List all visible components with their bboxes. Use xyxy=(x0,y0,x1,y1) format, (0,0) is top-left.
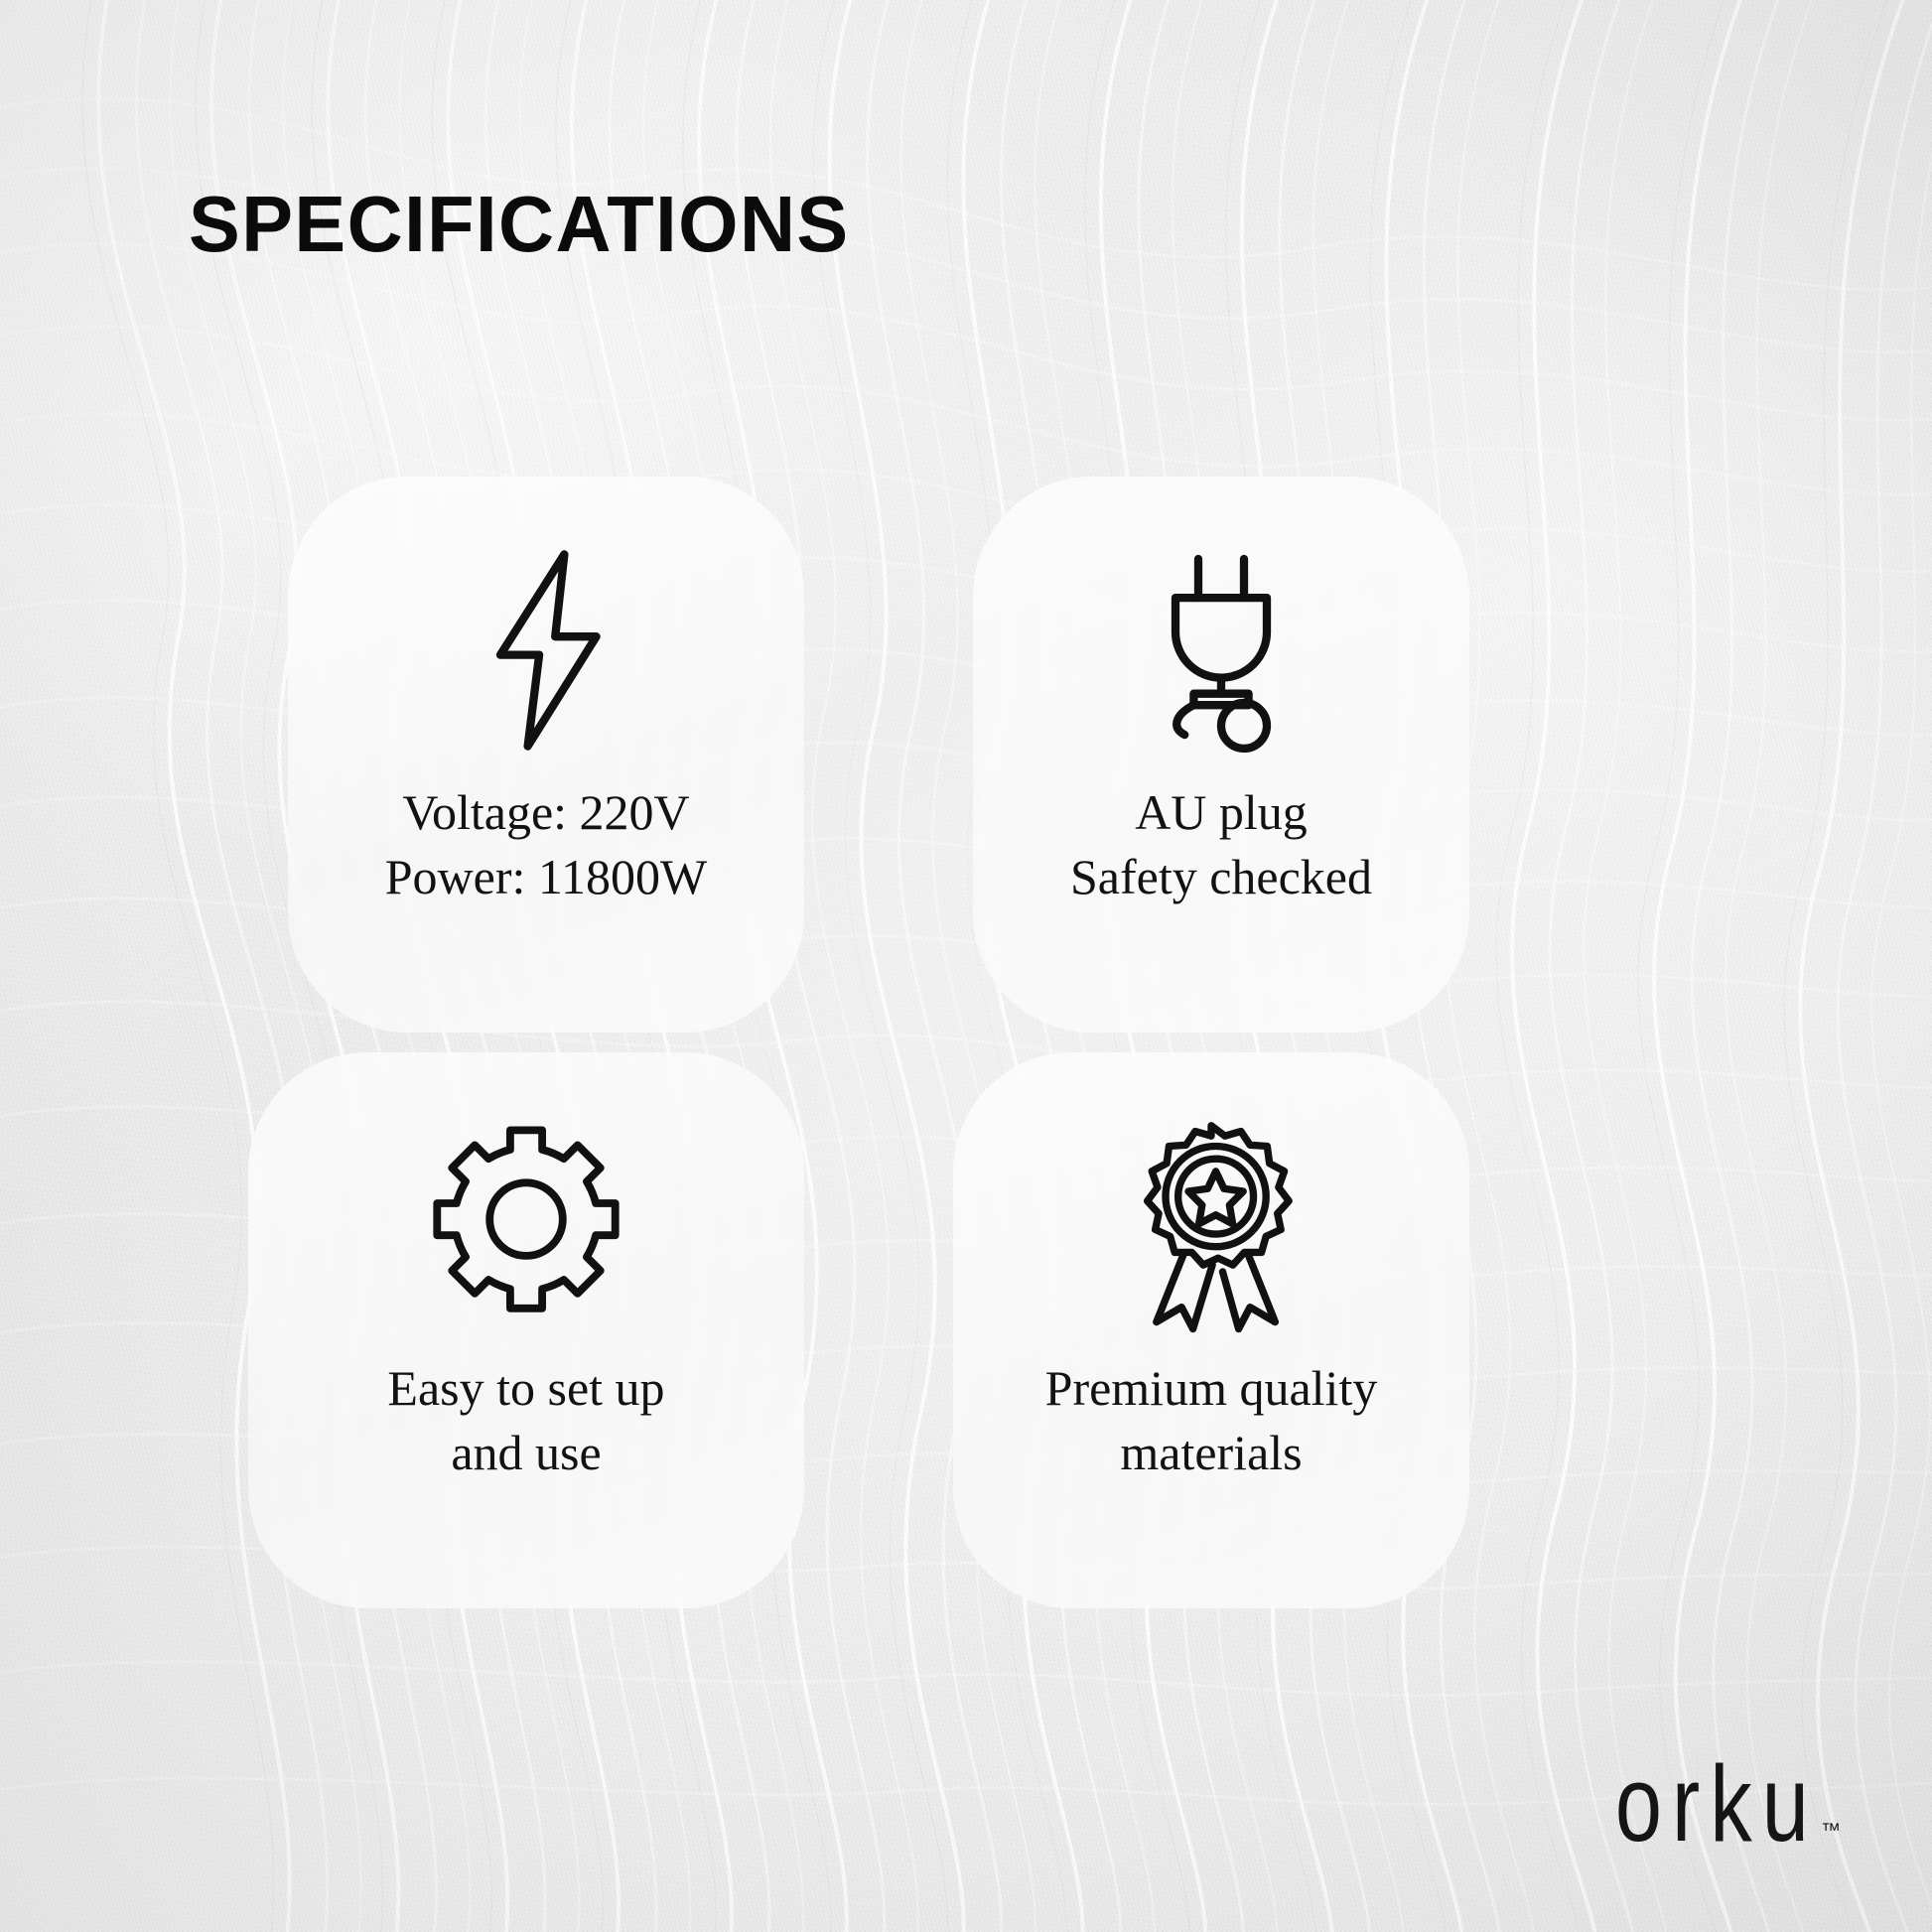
spec-card-premium-quality: Premium quality materials xyxy=(953,1052,1469,1608)
spec-line: AU plug xyxy=(1070,780,1372,845)
spec-line: and use xyxy=(387,1421,664,1485)
spec-card-text: Voltage: 220V Power: 11800W xyxy=(385,780,708,909)
page-title: SPECIFICATIONS xyxy=(189,179,850,270)
spec-line: materials xyxy=(1045,1421,1378,1485)
spec-card-easy-setup: Easy to set up and use xyxy=(248,1052,804,1608)
trademark-symbol: ™ xyxy=(1821,1820,1841,1843)
spec-card-text: Premium quality materials xyxy=(1045,1356,1378,1485)
spec-line: Safety checked xyxy=(1070,845,1372,909)
spec-line: Premium quality xyxy=(1045,1356,1378,1421)
spec-card-au-plug: AU plug Safety checked xyxy=(973,477,1469,1033)
brand-logo: orku ™ xyxy=(1597,1770,1841,1855)
spec-card-voltage-power: Voltage: 220V Power: 11800W xyxy=(288,477,804,1033)
spec-card-text: Easy to set up and use xyxy=(387,1356,664,1485)
specs-grid: Voltage: 220V Power: 11800W xyxy=(288,477,1678,1608)
power-plug-icon xyxy=(1107,536,1335,764)
specifications-page: SPECIFICATIONS Voltage: 220V Power: 1180… xyxy=(0,0,1932,1932)
spec-line: Power: 11800W xyxy=(385,845,708,909)
spec-line: Voltage: 220V xyxy=(385,780,708,845)
spec-card-text: AU plug Safety checked xyxy=(1070,780,1372,909)
lightning-bolt-icon xyxy=(432,536,660,764)
award-ribbon-icon xyxy=(1097,1112,1325,1340)
spec-line: Easy to set up xyxy=(387,1356,664,1421)
gear-icon xyxy=(412,1112,640,1340)
brand-logo-word: orku xyxy=(1615,1755,1819,1855)
